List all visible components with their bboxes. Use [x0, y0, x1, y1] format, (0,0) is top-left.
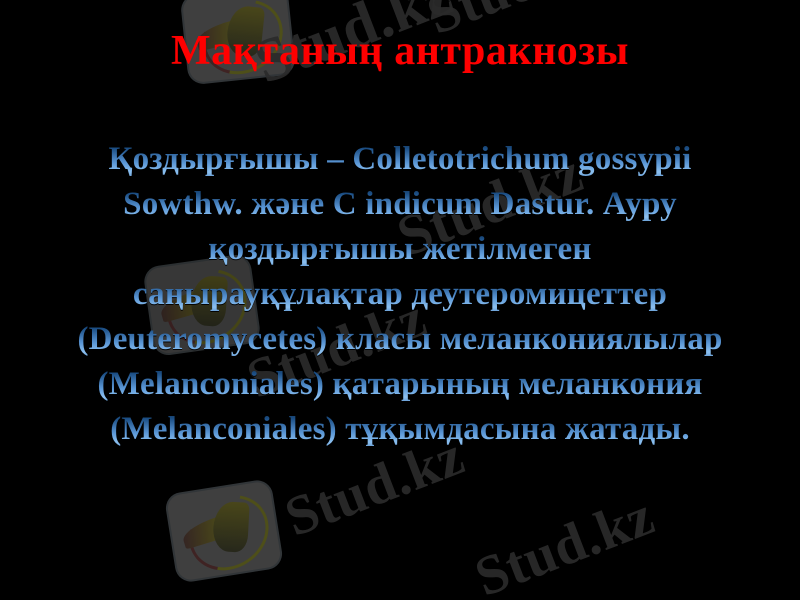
slide-body: Қоздырғышы – Colletotrichum gossypii Sow… [0, 137, 800, 452]
body-line: Қоздырғышы – Colletotrichum gossypii [0, 137, 800, 182]
body-line: Sowthw. және С indicum Dastur. Ауру [0, 182, 800, 227]
presentation-slide: Stud.kz - Stud.kz Stud.kz Stud.kz Stud.k… [0, 0, 800, 600]
body-line: (Deuteromycetes) класы меланкониялылар [0, 317, 800, 362]
body-line: қоздырғышы жетілмеген [0, 227, 800, 272]
body-line: (Melanconiales) қатарының меланкония [0, 362, 800, 407]
body-line: саңырауқұлақтар деутеромицеттер [0, 272, 800, 317]
body-line: (Melanconiales) тұқымдасына жатады. [0, 407, 800, 452]
slide-title: Мақтаның антракнозы [0, 30, 800, 72]
slide-content: Мақтаның антракнозы Қоздырғышы – Colleto… [0, 0, 800, 600]
